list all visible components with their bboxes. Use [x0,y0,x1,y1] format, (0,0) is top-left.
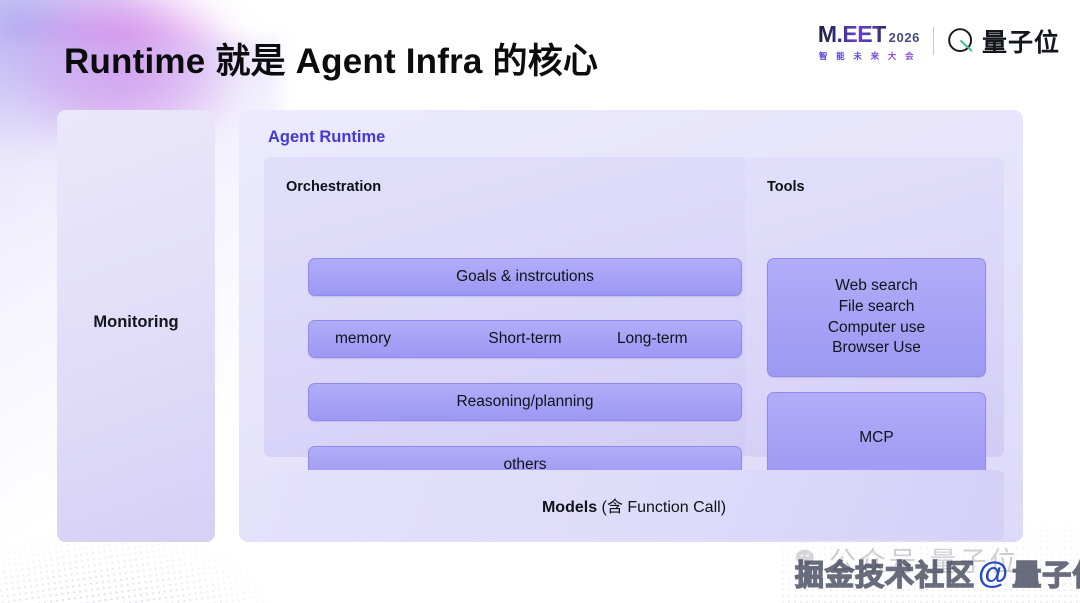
meet-year: 2026 [889,30,920,45]
orchestration-row-goals: Goals & instrcutions [308,258,742,296]
orchestration-panel: Orchestration Goals & instrcutions memor… [264,157,748,457]
tool-line-file-search: File search [839,297,915,318]
qbit-wordmark: 量子位 [982,23,1060,59]
slide-canvas: Runtime 就是 Agent Infra 的核心 M.EET 2026 智 … [0,0,1080,603]
monitoring-panel: Monitoring [57,110,215,542]
tools-capability-box: Web search File search Computer use Brow… [767,258,986,377]
tool-line-browser-use: Browser Use [832,338,921,359]
tools-title: Tools [767,179,805,195]
meet-subtitle: 智 能 未 来 大 会 [819,50,917,62]
tool-line-computer-use: Computer use [828,318,925,339]
q-circle-icon [947,27,975,55]
orchestration-title: Orchestration [286,179,381,195]
orchestration-row-reasoning-label: Reasoning/planning [456,393,593,411]
models-label-bold: Models [542,499,597,516]
memory-long-term: Long-term [590,330,715,348]
models-bar: Models (含 Function Call) [264,470,1004,540]
tool-line-web-search: Web search [835,276,917,297]
tool-line-mcp: MCP [859,428,893,449]
models-label: Models (含 Function Call) [542,493,726,517]
watermark-at-icon: @ [978,555,1009,591]
watermark-juejin: 掘金技术社区 @ 量子位 [795,552,1080,594]
orchestration-row-reasoning: Reasoning/planning [308,383,742,421]
brand-bar: M.EET 2026 智 能 未 来 大 会 量子位 [818,20,1060,62]
tools-panel: Tools Web search File search Computer us… [745,157,1004,457]
meet-logo-row: M.EET 2026 [818,21,920,48]
memory-row-grid: memory Short-term Long-term [309,330,741,348]
watermark-juejin-suffix: 量子位 [1012,552,1080,594]
brand-divider [933,27,934,55]
models-label-rest: (含 Function Call) [597,499,726,516]
watermark-juejin-prefix: 掘金技术社区 [795,552,975,594]
orchestration-row-goals-label: Goals & instrcutions [456,268,594,286]
page-title: Runtime 就是 Agent Infra 的核心 [64,33,598,84]
orchestration-row-memory: memory Short-term Long-term [308,320,742,358]
monitoring-label: Monitoring [57,313,215,332]
meet-logo: M.EET 2026 智 能 未 来 大 会 [818,21,920,62]
memory-label: memory [335,330,460,348]
agent-runtime-panel: Agent Runtime Orchestration Goals & inst… [239,110,1023,542]
qbit-logo: 量子位 [947,23,1060,59]
agent-runtime-title: Agent Runtime [268,128,385,147]
memory-short-term: Short-term [460,330,589,348]
meet-wordmark: M.EET [818,21,886,48]
